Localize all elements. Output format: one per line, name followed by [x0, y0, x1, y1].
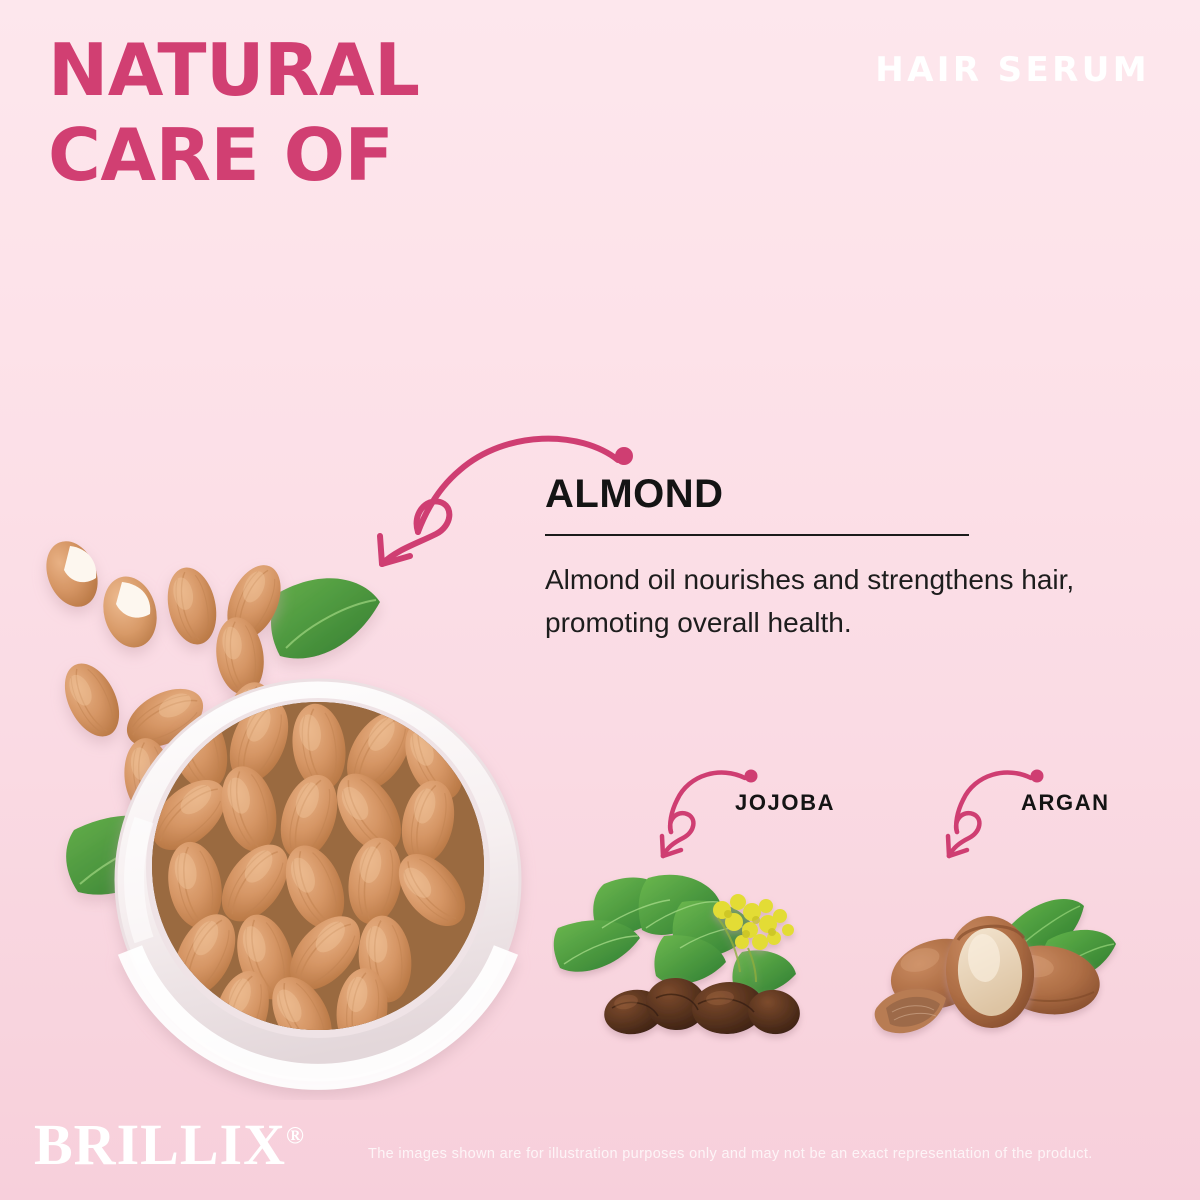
callout-dot [615, 447, 633, 465]
feature-description: Almond oil nourishes and strengthens hai… [545, 558, 1120, 645]
product-kicker: HAIR SERUM [875, 50, 1150, 90]
almond-nut [54, 655, 130, 746]
callout-dot [1031, 770, 1044, 783]
headline-line-1: NATURAL [48, 28, 420, 112]
feature-title: ALMOND [545, 474, 1125, 514]
ingredient-label-jojoba: JOJOBA [735, 790, 835, 816]
brand-name: BRILLIX [34, 1112, 286, 1177]
headline-line-2: CARE OF [48, 121, 420, 190]
jojoba-artwork [552, 862, 834, 1054]
argan-artwork [872, 888, 1122, 1050]
almond-artwork [18, 520, 578, 1100]
almond-leaf [271, 578, 380, 658]
argan-shell-piece [875, 989, 946, 1033]
almond-bowl [116, 680, 520, 1080]
disclaimer-text: The images shown are for illustration pu… [368, 1146, 1093, 1162]
almond-feature-block: ALMOND Almond oil nourishes and strength… [545, 474, 1125, 645]
split-almond [96, 571, 164, 653]
feature-divider [545, 534, 969, 536]
split-almond [37, 533, 107, 614]
callout-dot [745, 770, 758, 783]
registered-mark: ® [286, 1124, 304, 1150]
brand-logo: BRILLIX® [34, 1116, 304, 1174]
poster-canvas: NATURAL CARE OF HAIR SERUM [0, 0, 1200, 1200]
ingredient-label-argan: ARGAN [1021, 790, 1110, 816]
page-title: NATURAL CARE OF [48, 36, 420, 190]
almond-nut [161, 563, 223, 649]
